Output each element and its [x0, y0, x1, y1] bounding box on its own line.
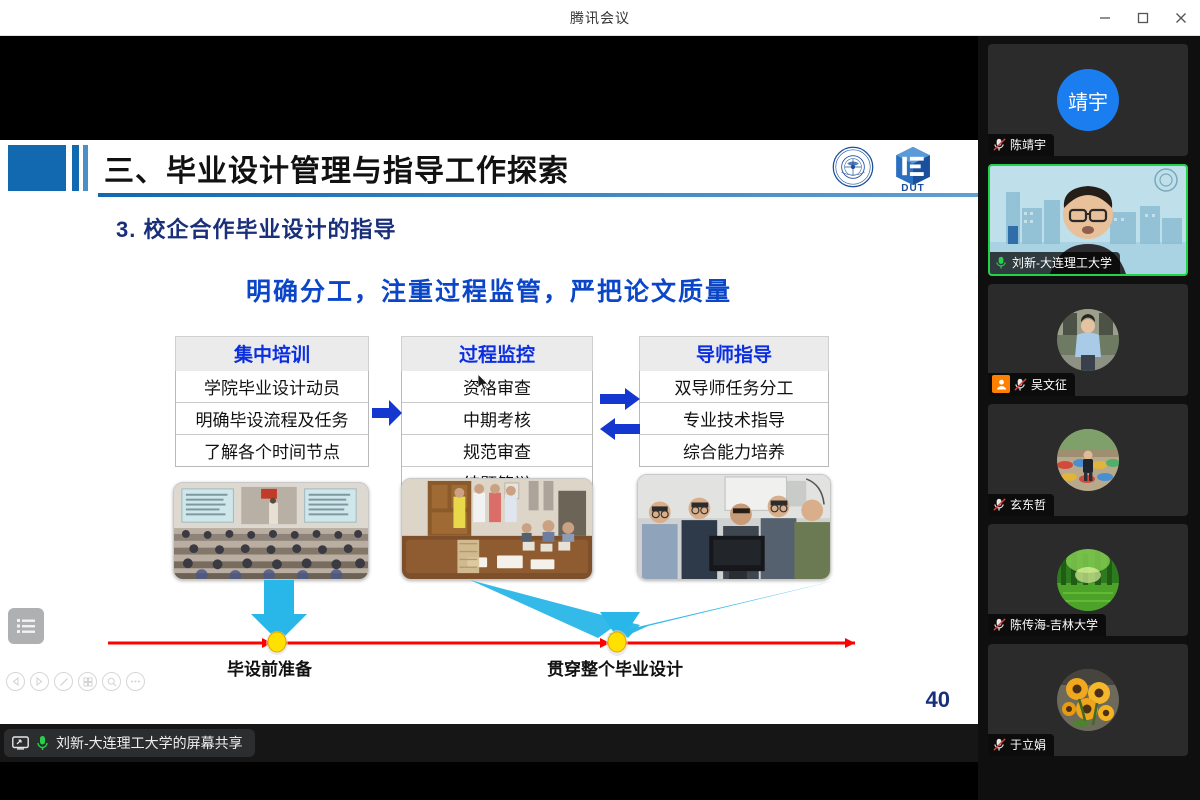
microphone-muted-icon: [992, 137, 1007, 152]
microphone-icon: [36, 735, 49, 751]
process-box-1: 集中培训 学院毕业设计动员 明确毕设流程及任务 了解各个时间节点: [175, 336, 369, 467]
box-1-item: 明确毕设流程及任务: [176, 403, 368, 435]
participant-tile-liuxin[interactable]: 刘新-大连理工大学: [988, 164, 1188, 276]
previous-slide-button[interactable]: [6, 672, 25, 691]
zoom-tool-button[interactable]: [102, 672, 121, 691]
arrow-left-icon: [600, 418, 640, 440]
participant-name: 陈靖宇: [1010, 136, 1046, 153]
ppt-menu-button[interactable]: [8, 608, 44, 644]
share-status-text: 刘新-大连理工大学的屏幕共享: [56, 733, 243, 753]
box-3-items: 双导师任务分工 专业技术指导 综合能力培养: [639, 371, 829, 467]
avatar-photo: [1057, 549, 1119, 611]
box-3-heading: 导师指导: [639, 336, 829, 371]
avatar-initials: 靖宇: [1057, 69, 1119, 131]
microphone-muted-icon: [992, 497, 1007, 512]
more-options-button[interactable]: [126, 672, 145, 691]
participant-name: 于立娟: [1010, 736, 1046, 753]
arrow-right-icon: [372, 400, 402, 426]
participant-name: 陈传海-吉林大学: [1010, 616, 1098, 633]
box-3-item: 双导师任务分工: [640, 371, 828, 403]
all-slides-button[interactable]: [78, 672, 97, 691]
box-1-heading: 集中培训: [175, 336, 369, 371]
timeline-label-2: 贯穿整个毕业设计: [547, 655, 683, 680]
process-box-3: 导师指导 双导师任务分工 专业技术指导 综合能力培养: [639, 336, 829, 467]
participant-tile-xuandongzhe[interactable]: 玄东哲: [988, 404, 1188, 516]
box-3-item: 综合能力培养: [640, 435, 828, 466]
photo-defense-room: [401, 478, 593, 580]
presentation-slide: 三、毕业设计管理与指导工作探索: [0, 140, 978, 725]
share-status-pill[interactable]: 刘新-大连理工大学的屏幕共享: [4, 729, 255, 757]
participant-namebar: 于立娟: [988, 734, 1054, 756]
close-button[interactable]: [1162, 0, 1200, 36]
box-2-item: 中期考核: [402, 403, 592, 435]
participant-name: 玄东哲: [1010, 496, 1046, 513]
participant-tile-wuwenzheng[interactable]: 吴文征: [988, 284, 1188, 396]
box-2-item: 规范审查: [402, 435, 592, 467]
microphone-muted-icon: [992, 617, 1007, 632]
participant-namebar: 陈传海-吉林大学: [988, 614, 1106, 636]
participant-tile-yulijuan[interactable]: 于立娟: [988, 644, 1188, 756]
box-1-item: 学院毕业设计动员: [176, 371, 368, 403]
process-diagram: 集中培训 学院毕业设计动员 明确毕设流程及任务 了解各个时间节点 过程监控 资格…: [0, 140, 978, 725]
slide-page-number: 40: [926, 687, 950, 713]
participant-tile-chenjingyu[interactable]: 靖宇 陈靖宇: [988, 44, 1188, 156]
participant-name: 吴文征: [1031, 376, 1067, 393]
screen-share-icon: [12, 736, 29, 750]
avatar-photo: [1057, 429, 1119, 491]
participant-name: 刘新-大连理工大学: [1012, 254, 1112, 271]
participant-namebar: 玄东哲: [988, 494, 1054, 516]
photo-lab-computer: [637, 474, 831, 580]
maximize-button[interactable]: [1124, 0, 1162, 36]
avatar-photo: [1057, 309, 1119, 371]
share-status-bar: 刘新-大连理工大学的屏幕共享: [0, 724, 978, 762]
timeline-label-1: 毕设前准备: [227, 655, 312, 680]
participant-namebar: 吴文征: [988, 373, 1075, 396]
list-menu-icon: [17, 618, 35, 634]
pen-tool-button[interactable]: [54, 672, 73, 691]
participant-tile-chenchuanhai[interactable]: 陈传海-吉林大学: [988, 524, 1188, 636]
tencent-meeting-window: 腾讯会议 三、毕业设计管理与指导工作探索: [0, 0, 1200, 800]
photo-lecture-hall: [173, 482, 369, 580]
box-2-heading: 过程监控: [401, 336, 593, 371]
microphone-active-icon: [994, 255, 1009, 270]
next-slide-button[interactable]: [30, 672, 49, 691]
microphone-muted-icon: [1013, 377, 1028, 392]
process-box-2: 过程监控 资格审查 中期考核 规范审查 结题答辩: [401, 336, 593, 499]
box-1-item: 了解各个时间节点: [176, 435, 368, 466]
ppt-presenter-toolbar: [6, 672, 145, 691]
participant-strip[interactable]: 靖宇 陈靖宇: [978, 36, 1200, 800]
box-2-item: 资格审查: [402, 371, 592, 403]
minimize-button[interactable]: [1086, 0, 1124, 36]
participant-namebar: 陈靖宇: [988, 134, 1054, 156]
window-controls: [1086, 0, 1200, 36]
arrow-right-icon: [600, 388, 640, 410]
box-1-items: 学院毕业设计动员 明确毕设流程及任务 了解各个时间节点: [175, 371, 369, 467]
host-badge: [992, 375, 1010, 393]
window-titlebar: 腾讯会议: [0, 0, 1200, 36]
microphone-muted-icon: [992, 737, 1007, 752]
box-3-item: 专业技术指导: [640, 403, 828, 435]
window-title: 腾讯会议: [570, 8, 630, 28]
participant-namebar: 刘新-大连理工大学: [990, 252, 1120, 274]
shared-screen-area: 三、毕业设计管理与指导工作探索: [0, 36, 978, 762]
mouse-cursor-icon: [478, 374, 490, 392]
host-person-icon: [996, 379, 1007, 390]
avatar-photo: [1057, 669, 1119, 731]
